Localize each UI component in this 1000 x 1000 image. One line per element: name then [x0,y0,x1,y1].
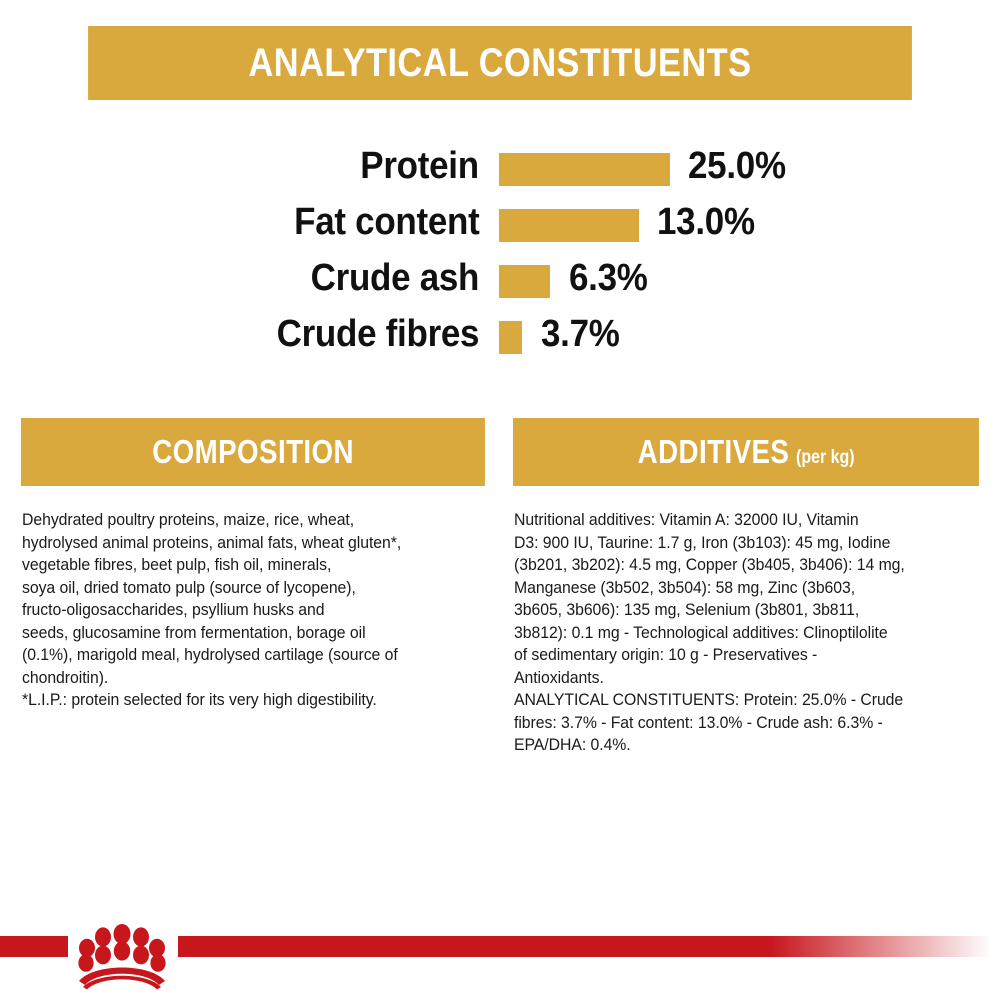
analytical-constituents-chart: Protein 25.0% Fat content 13.0% Crude as… [0,140,1000,390]
additives-heading: ADDITIVES [638,433,790,471]
additives-heading-suffix: (per kg) [796,447,855,469]
page-title: ANALYTICAL CONSTITUENTS [249,41,752,86]
composition-heading-wrap: COMPOSITION [152,433,354,471]
composition-heading: COMPOSITION [152,433,354,471]
bar-value-protein: 25.0% [688,145,786,188]
chart-row: Crude ash 6.3% [0,252,1000,308]
bar-label-protein: Protein [360,145,479,188]
bar-value-crude-fibres: 3.7% [541,313,620,356]
bar-value-crude-ash: 6.3% [569,257,648,300]
additives-heading-wrap: ADDITIVES (per kg) [638,433,855,471]
bar-protein [499,153,670,186]
composition-body-text: Dehydrated poultry proteins, maize, rice… [22,509,480,712]
chart-row: Fat content 13.0% [0,196,1000,252]
product-info-panel: ANALYTICAL CONSTITUENTS Protein 25.0% Fa… [0,0,1000,1000]
footer-band-right [178,936,1000,957]
chart-row: Protein 25.0% [0,140,1000,196]
footer-band-left [0,936,68,957]
bar-label-fat-content: Fat content [294,201,479,244]
bar-label-crude-ash: Crude ash [311,257,479,300]
additives-body-text: Nutritional additives: Vitamin A: 32000 … [514,509,970,757]
bar-label-crude-fibres: Crude fibres [276,313,479,356]
bar-crude-fibres [499,321,522,354]
analytical-constituents-banner: ANALYTICAL CONSTITUENTS [88,26,912,100]
royal-canin-crown-icon [62,918,182,990]
composition-banner: COMPOSITION [21,418,485,486]
bar-value-fat-content: 13.0% [657,201,755,244]
additives-banner: ADDITIVES (per kg) [513,418,979,486]
bar-crude-ash [499,265,550,298]
chart-row: Crude fibres 3.7% [0,308,1000,364]
bar-fat-content [499,209,639,242]
footer-brand-band [0,926,1000,1000]
